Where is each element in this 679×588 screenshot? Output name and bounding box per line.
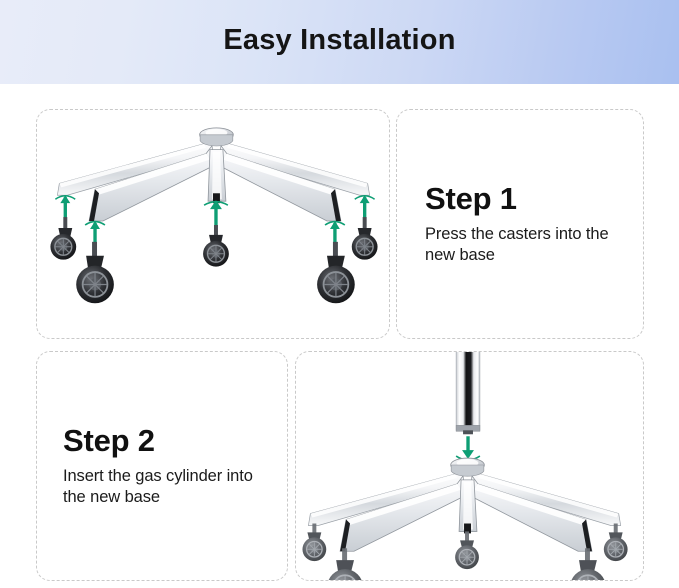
chrome-base-group: [308, 458, 620, 551]
caster-wheel: [352, 217, 378, 260]
chair-base-exploded-svg: [37, 110, 389, 338]
insert-arrow-group: [456, 436, 480, 460]
gas-cylinder-into-base-image: [296, 352, 643, 580]
caster-wheels-group: [50, 217, 377, 303]
step-one-body: Press the casters into the new base: [425, 223, 635, 265]
instruction-panel-grid: Step 1 Press the casters into the new ba…: [0, 84, 679, 588]
step-one-heading: Step 1: [425, 183, 635, 216]
caster-wheel: [203, 225, 229, 267]
caster-wheel: [455, 531, 479, 569]
gas-cylinder-assembly-svg: [296, 352, 643, 580]
caster-wheel: [302, 523, 326, 561]
caster-wheel: [317, 242, 355, 303]
caster-wheel: [604, 523, 628, 561]
gas-cylinder-group: [456, 352, 480, 434]
caster-wheel: [570, 548, 606, 580]
chair-base-with-casters-image: [37, 110, 389, 338]
step-two-text-block: Step 2 Insert the gas cylinder into the …: [63, 425, 278, 507]
panel-step-two: Step 2 Insert the gas cylinder into the …: [36, 351, 288, 581]
header-banner: Easy Installation: [0, 0, 679, 84]
page-title: Easy Installation: [223, 26, 455, 59]
step-two-heading: Step 2: [63, 425, 278, 458]
step-two-body: Insert the gas cylinder into the new bas…: [63, 465, 278, 507]
caster-wheel: [327, 548, 363, 580]
step-one-text-block: Step 1 Press the casters into the new ba…: [425, 183, 635, 265]
panel-base-casters: [36, 109, 390, 339]
panel-gas-cylinder: [295, 351, 644, 581]
caster-wheel: [50, 217, 76, 260]
panel-step-one: Step 1 Press the casters into the new ba…: [396, 109, 644, 339]
caster-wheel: [76, 242, 114, 303]
